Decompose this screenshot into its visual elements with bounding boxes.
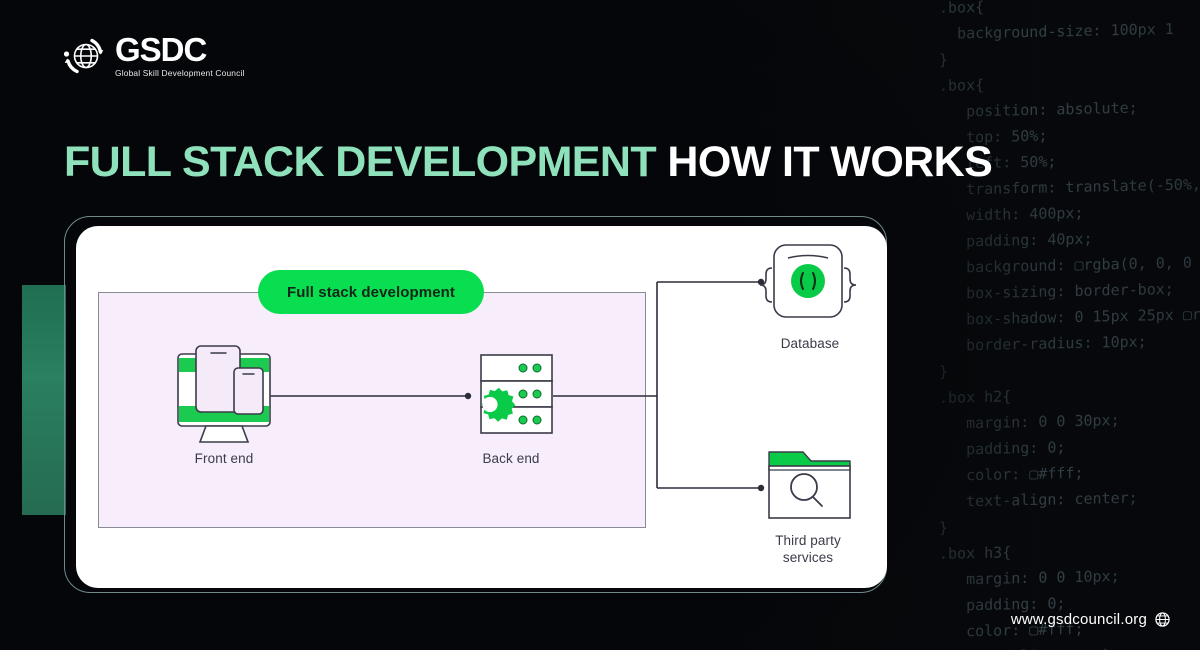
background-code-right: .box{ background-size: 100px 1 } .box{ p…	[939, 0, 1200, 650]
brand-logo-text: GSDC Global Skill Development Council	[115, 33, 245, 79]
full-stack-development-pill: Full stack development	[258, 270, 484, 314]
footer-url[interactable]: www.gsdcouncil.org	[1011, 611, 1147, 628]
pill-label: Full stack development	[287, 284, 455, 301]
brand-logo: GSDC Global Skill Development Council	[62, 33, 245, 79]
page-title-secondary: HOW IT WORKS	[667, 138, 992, 186]
node-label-front-end: Front end	[162, 450, 286, 467]
node-label-database: Database	[748, 335, 872, 352]
globe-icon	[1155, 612, 1170, 627]
node-label-third-party: Third party services	[746, 532, 870, 566]
diagram-inner-panel	[98, 292, 646, 528]
page-title-primary: FULL STACK DEVELOPMENT	[64, 138, 656, 186]
node-label-back-end: Back end	[449, 450, 573, 467]
node-label-third-party-line2: services	[783, 550, 833, 565]
page-title: FULL STACK DEVELOPMENT HOW IT WORKS	[64, 138, 992, 187]
left-accent-bar	[22, 285, 66, 515]
brand-tagline: Global Skill Development Council	[115, 68, 245, 79]
brand-name: GSDC	[115, 33, 245, 67]
node-label-third-party-line1: Third party	[775, 533, 841, 548]
footer: www.gsdcouncil.org	[1011, 611, 1170, 628]
globe-arrows-icon	[62, 34, 106, 78]
